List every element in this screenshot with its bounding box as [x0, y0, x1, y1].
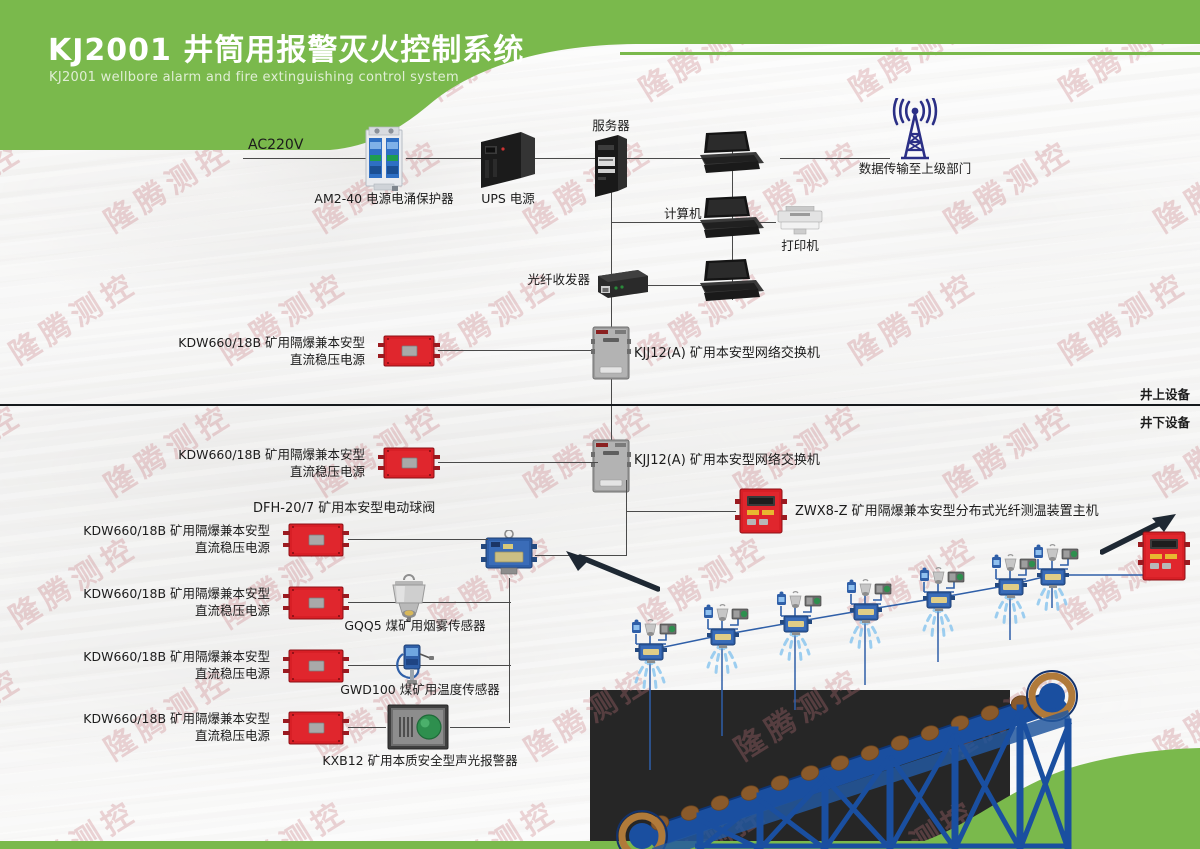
wire-switch-to-dts-h — [626, 511, 736, 512]
psu-label-4-line1: KDW660/18B 矿用隔爆兼本安型 — [83, 586, 270, 601]
psu-label-3-line1: KDW660/18B 矿用隔爆兼本安型 — [83, 523, 270, 538]
smoke-sensor-icon — [385, 573, 433, 623]
wire-ups-to-server — [535, 158, 595, 159]
psu-icon-1 — [378, 334, 440, 368]
computer-icon-2 — [700, 196, 764, 238]
printer-icon — [776, 206, 824, 236]
psu-label-1-line1: KDW660/18B 矿用隔爆兼本安型 — [178, 335, 365, 350]
psu-icon-3 — [283, 522, 349, 558]
psu-label-6-line1: KDW660/18B 矿用隔爆兼本安型 — [83, 711, 270, 726]
sprinkler-node[interactable] — [632, 620, 676, 664]
switch-label-underground: KJJ12(A) 矿用本安型网络交换机 — [634, 452, 820, 469]
network-switch-icon-surface — [591, 325, 631, 381]
temperature-sensor-label: GWD100 煤矿用温度传感器 — [330, 681, 510, 698]
psu-label-5-line2: 直流稳压电源 — [195, 666, 270, 681]
psu-icon-4 — [283, 585, 349, 621]
divider-label-above: 井上设备 — [1140, 386, 1190, 403]
ups-label: UPS 电源 — [462, 190, 554, 207]
psu-label-4: KDW660/18B 矿用隔爆兼本安型 直流稳压电源 — [65, 585, 270, 619]
alarm-label: KXB12 矿用本质安全型声光报警器 — [300, 752, 540, 769]
psu-icon-5 — [283, 648, 349, 684]
sprinkler-node[interactable] — [847, 580, 891, 624]
server-label: 服务器 — [566, 117, 656, 134]
dts-host-label: ZWX8-Z 矿用隔爆兼本安型分布式光纤测温装置主机 — [795, 503, 1099, 520]
psu-label-5-line1: KDW660/18B 矿用隔爆兼本安型 — [83, 649, 270, 664]
wire-to-pc2 — [611, 222, 714, 223]
psu-label-1-line2: 直流稳压电源 — [290, 352, 365, 367]
switch-label-surface: KJJ12(A) 矿用本安型网络交换机 — [634, 345, 820, 362]
wire-psu1-to-switch — [438, 350, 598, 351]
ball-valve-label: DFH-20/7 矿用本安型电动球阀 — [253, 500, 435, 517]
psu-label-3-line2: 直流稳压电源 — [195, 540, 270, 555]
surge-protector-label: AM2-40 电源电涌保护器 — [304, 190, 464, 207]
uplink-label: 数据传输至上级部门 — [845, 160, 985, 177]
fiber-transceiver-label: 光纤收发器 — [480, 271, 590, 288]
conveyor-and-sprinkler-group — [600, 530, 1200, 849]
audible-visual-alarm-icon — [386, 703, 450, 751]
surface-underground-divider — [0, 404, 1200, 406]
psu-label-6-line2: 直流稳压电源 — [195, 728, 270, 743]
wire-switch-to-dts-v — [626, 480, 627, 511]
sprinkler-node[interactable] — [704, 605, 748, 649]
psu-label-6: KDW660/18B 矿用隔爆兼本安型 直流稳压电源 — [65, 710, 270, 744]
sprinkler-node[interactable] — [992, 555, 1036, 599]
sprinkler-node[interactable] — [920, 568, 964, 612]
header-accent-line — [620, 52, 1200, 55]
psu-label-3: KDW660/18B 矿用隔爆兼本安型 直流稳压电源 — [65, 522, 270, 556]
divider-label-below: 井下设备 — [1140, 414, 1190, 431]
wire-psu2-to-switch — [438, 462, 598, 463]
dts-host-icon — [735, 487, 787, 535]
temperature-sensor-icon — [390, 640, 436, 686]
ac220v-label: AC220V — [248, 137, 303, 154]
psu-icon-2 — [378, 446, 440, 480]
sprinkler-node[interactable] — [1034, 545, 1078, 589]
ups-icon — [481, 132, 535, 188]
psu-label-2: KDW660/18B 矿用隔爆兼本安型 直流稳压电源 — [160, 446, 365, 480]
psu-label-5: KDW660/18B 矿用隔爆兼本安型 直流稳压电源 — [65, 648, 270, 682]
page-title: KJ2001 井筒用报警灭火控制系统 — [48, 25, 524, 69]
psu-label-1: KDW660/18B 矿用隔爆兼本安型 直流稳压电源 — [160, 334, 365, 368]
psu-label-2-line1: KDW660/18B 矿用隔爆兼本安型 — [178, 447, 365, 462]
computer-label: 计算机 — [664, 205, 702, 222]
wire-valve-bus-down — [509, 578, 510, 723]
wire-spd-to-ups — [406, 158, 481, 159]
fiber-transceiver-icon — [598, 268, 648, 300]
ball-valve-icon — [481, 530, 537, 578]
printer-label: 打印机 — [760, 237, 840, 254]
network-switch-icon-underground — [591, 438, 631, 494]
psu-icon-6 — [283, 710, 349, 746]
computer-icon-1 — [700, 131, 764, 173]
page-subtitle: KJ2001 wellbore alarm and fire extinguis… — [49, 70, 459, 85]
surge-protector-icon — [362, 126, 406, 192]
diagram-canvas: 隆腾测控隆腾测控隆腾测控隆腾测控隆腾测控隆腾测控隆腾测控隆腾测控隆腾测控隆腾测控… — [0, 0, 1200, 849]
antenna-icon — [885, 98, 945, 160]
sprinkler-node[interactable] — [777, 592, 821, 636]
wire-psu6-to-alarm — [348, 727, 386, 728]
server-icon — [595, 135, 627, 197]
wire-ac-to-spd — [243, 158, 371, 159]
psu-label-2-line2: 直流稳压电源 — [290, 464, 365, 479]
wire-alarm-to-bus — [450, 727, 510, 728]
computer-icon-3 — [700, 259, 764, 301]
smoke-sensor-label: GQQ5 煤矿用烟雾传感器 — [330, 617, 500, 634]
psu-label-4-line2: 直流稳压电源 — [195, 603, 270, 618]
wire-psu3-to-valve — [348, 539, 488, 540]
